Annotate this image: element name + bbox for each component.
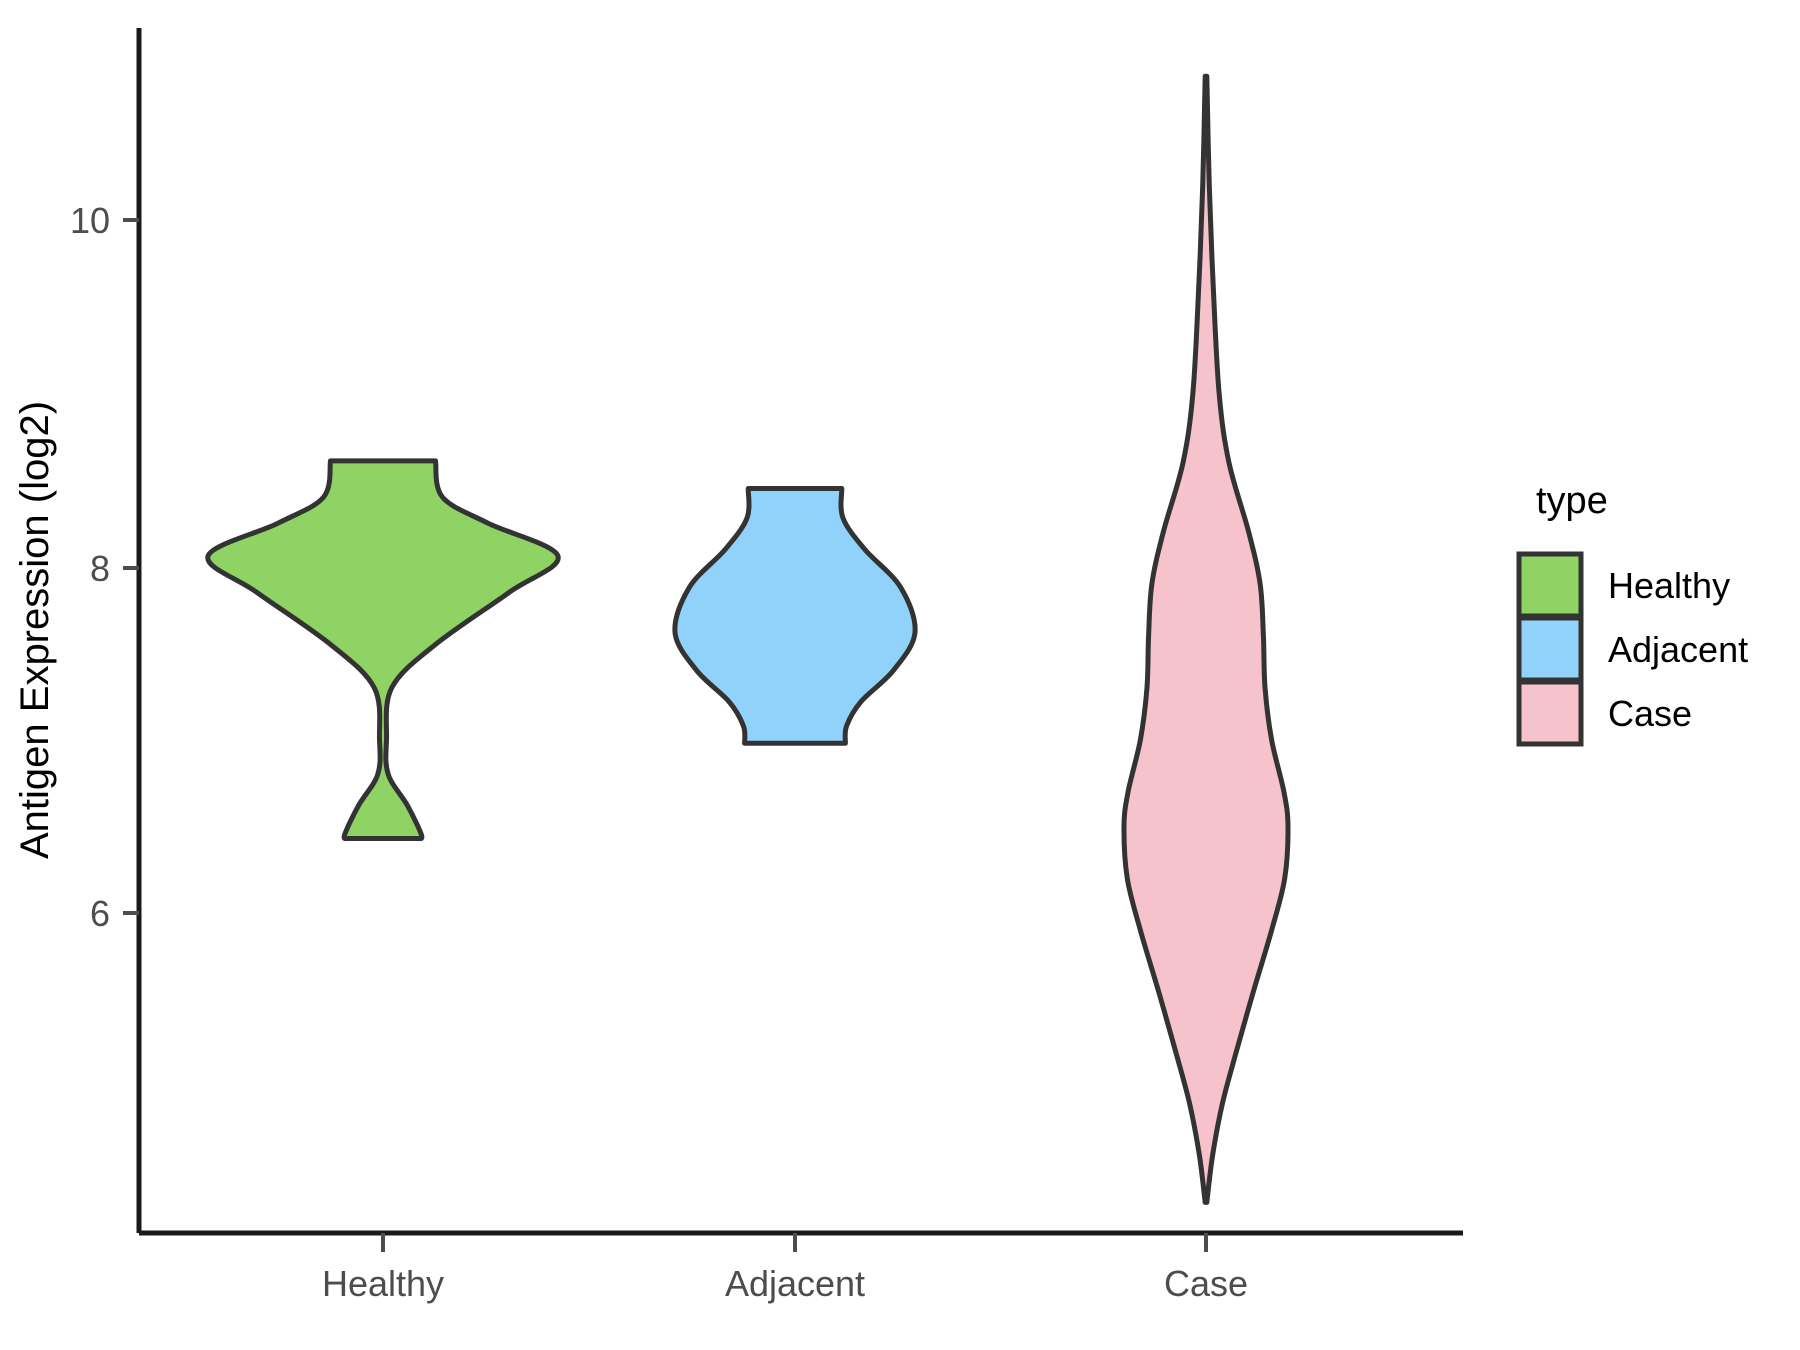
legend-label-case[interactable]: Case bbox=[1608, 693, 1692, 734]
plot-canvas: 10 8 6 Antigen Expression (log2) Healthy… bbox=[0, 0, 1800, 1350]
x-tick-label-adjacent: Adjacent bbox=[725, 1263, 865, 1304]
legend-key-case[interactable] bbox=[1519, 682, 1581, 744]
legend-title: type bbox=[1536, 480, 1608, 522]
legend-label-adjacent[interactable]: Adjacent bbox=[1608, 629, 1748, 670]
legend-key-healthy[interactable] bbox=[1519, 554, 1581, 616]
x-tick-label-healthy: Healthy bbox=[322, 1263, 444, 1304]
y-tick-label-6: 6 bbox=[90, 893, 110, 934]
x-tick-label-case: Case bbox=[1164, 1263, 1248, 1304]
legend-label-healthy[interactable]: Healthy bbox=[1608, 565, 1730, 606]
y-tick-label-10: 10 bbox=[70, 200, 110, 241]
violin-plot: 10 8 6 Antigen Expression (log2) Healthy… bbox=[0, 0, 1800, 1350]
y-axis-title: Antigen Expression (log2) bbox=[13, 401, 57, 859]
y-tick-label-8: 8 bbox=[90, 548, 110, 589]
legend-key-adjacent[interactable] bbox=[1519, 618, 1581, 680]
